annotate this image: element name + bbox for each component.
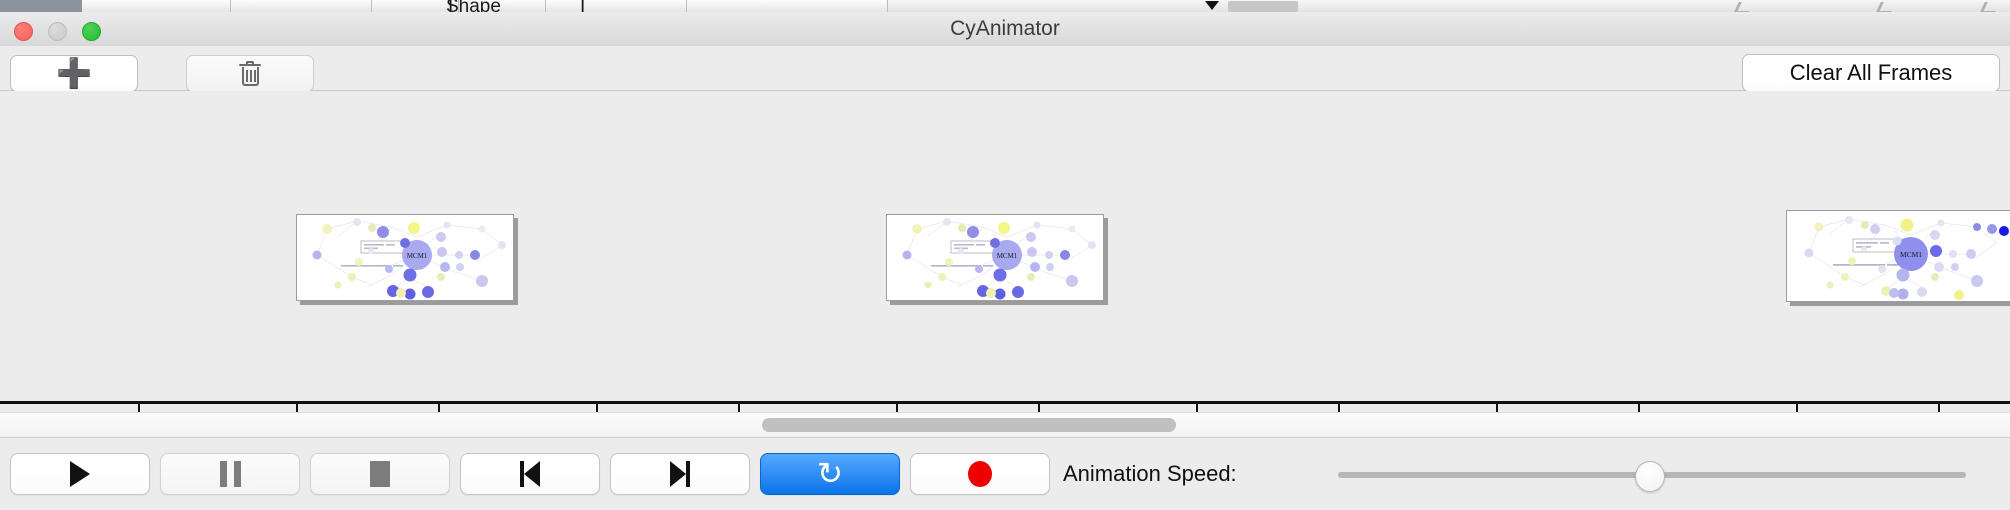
thumbnail-node-label: MCM1	[407, 252, 428, 260]
axis-major-tick	[1196, 404, 1198, 412]
animation-speed-slider-knob[interactable]	[1635, 461, 1665, 492]
axis-minor-tick	[1338, 404, 1340, 412]
trash-icon	[239, 61, 261, 87]
stop-icon	[370, 461, 390, 487]
loop-icon: ↻	[817, 459, 843, 489]
axis-minor-tick	[1038, 404, 1040, 412]
frame-thumbnail-3[interactable]: MCM1	[1786, 210, 2010, 302]
timeline-scrollbar[interactable]	[0, 412, 2010, 437]
background-cell	[546, 0, 687, 12]
network-thumbnail-svg: MCM1	[297, 215, 513, 300]
loop-button[interactable]: ↻	[760, 453, 900, 495]
axis-minor-tick	[438, 404, 440, 412]
background-cell	[231, 0, 372, 12]
axis-major-tick	[596, 404, 598, 412]
toolbar: ➕ Clear All Frames	[0, 46, 2010, 91]
background-scrollbar-thumb[interactable]	[1228, 1, 1298, 12]
stop-button[interactable]	[310, 453, 450, 495]
axis-minor-tick	[1938, 404, 1940, 412]
network-thumbnail-svg: MCM1	[887, 215, 1103, 300]
timeline-axis-line	[0, 401, 2010, 404]
record-button[interactable]	[910, 453, 1050, 495]
axis-major-tick	[896, 404, 898, 412]
playback-control-bar: ↻ Animation Speed:	[0, 437, 2010, 510]
animation-speed-label: Animation Speed:	[1063, 453, 1237, 495]
skip-back-icon	[520, 461, 540, 487]
background-cell	[687, 0, 888, 12]
axis-minor-tick	[138, 404, 140, 412]
delete-frame-button[interactable]	[186, 55, 314, 92]
record-icon	[968, 461, 992, 487]
timeline-scrollbar-thumb[interactable]	[762, 418, 1176, 432]
thumbnail-node-label: MCM1	[997, 252, 1018, 260]
pause-icon	[220, 461, 241, 487]
background-caret-icon	[1205, 1, 1219, 10]
skip-forward-button[interactable]	[610, 453, 750, 495]
window-title: CyAnimator	[0, 12, 2010, 46]
network-thumbnail-svg: MCM1	[1787, 211, 2010, 301]
add-frame-button[interactable]: ➕	[10, 55, 138, 92]
skip-back-button[interactable]	[460, 453, 600, 495]
timeline-panel[interactable]: MCM1	[0, 91, 2010, 412]
pause-button[interactable]	[160, 453, 300, 495]
clear-all-frames-label: Clear All Frames	[1790, 60, 1953, 86]
axis-major-tick	[1496, 404, 1498, 412]
axis-major-tick	[1796, 404, 1798, 412]
frame-thumbnail-1[interactable]: MCM1	[296, 214, 514, 301]
clear-all-frames-button[interactable]: Clear All Frames	[1742, 54, 2000, 92]
skip-forward-icon	[670, 461, 690, 487]
play-icon	[70, 461, 90, 487]
thumbnail-node-label: MCM1	[1900, 250, 1922, 259]
background-dark-tab	[0, 0, 82, 12]
axis-minor-tick	[738, 404, 740, 412]
cyanimator-window: I I Shape CyAnimator ➕	[0, 0, 2010, 510]
background-cell	[82, 0, 231, 12]
frame-thumbnail-2[interactable]: MCM1	[886, 214, 1104, 301]
axis-minor-tick	[1638, 404, 1640, 412]
axis-major-tick	[296, 404, 298, 412]
play-button[interactable]	[10, 453, 150, 495]
title-bar: CyAnimator	[0, 12, 2010, 47]
